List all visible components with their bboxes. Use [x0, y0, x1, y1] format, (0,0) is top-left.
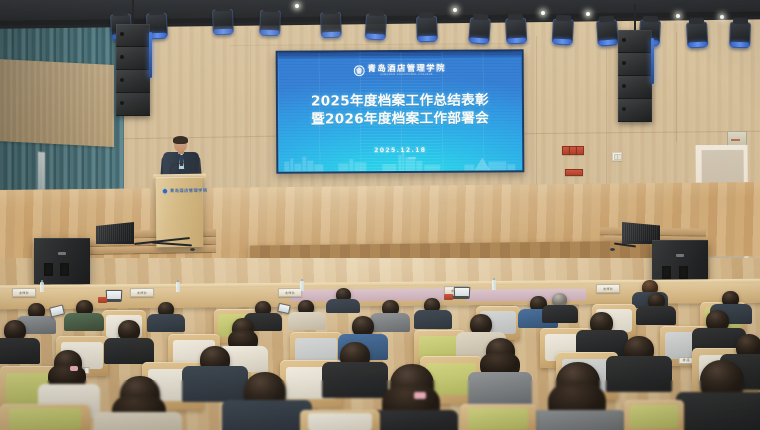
audience-torso	[542, 305, 578, 323]
audience-torso	[182, 366, 248, 402]
hair-clip	[414, 392, 426, 399]
audience-torso	[606, 356, 672, 392]
audience-torso	[288, 312, 326, 330]
hair-clip	[70, 366, 78, 371]
red-folder[interactable]	[444, 294, 453, 300]
seat[interactable]	[300, 410, 380, 430]
audience-torso	[468, 372, 532, 406]
audience-torso	[532, 410, 626, 430]
stage-light	[729, 22, 751, 49]
spotlight-beam	[720, 15, 724, 19]
array-module	[116, 93, 150, 116]
stage-light	[212, 9, 234, 36]
spotlight-beam	[295, 4, 299, 8]
water-bottle	[300, 281, 304, 291]
audience-torso	[370, 313, 410, 332]
screen-institution-logo: 青岛酒店管理学院 QINGDAO VOCATIONAL COLLEGE	[278, 63, 522, 77]
audience-torso	[222, 400, 312, 430]
spotlight-beam	[453, 8, 457, 12]
institution-name-en: QINGDAO VOCATIONAL COLLEGE	[381, 74, 434, 77]
podium-logo: 青岛酒店管理学院	[162, 188, 208, 194]
array-module	[116, 24, 150, 47]
seat[interactable]	[0, 404, 90, 430]
spotlight-beam	[676, 14, 680, 18]
skyline-graphic	[278, 144, 522, 172]
stage-light	[468, 17, 491, 44]
led-screen-top-band	[278, 51, 522, 58]
water-bottle	[40, 282, 44, 292]
nameplate: 主席台	[596, 284, 620, 293]
wall-control-box[interactable]	[727, 131, 747, 146]
desk-cloth	[466, 288, 586, 301]
audience-torso	[94, 412, 182, 430]
array-led-strip	[651, 38, 654, 84]
stage-light	[259, 10, 281, 37]
school-seal-icon	[162, 188, 168, 194]
wall-seam-vertical	[676, 32, 677, 142]
stage-light	[552, 18, 574, 45]
stage-light	[505, 17, 527, 44]
array-module	[618, 99, 652, 122]
audience-torso	[64, 313, 104, 331]
stage-light	[416, 16, 438, 43]
red-folder[interactable]	[98, 297, 107, 303]
nameplate: 主席台	[130, 288, 154, 297]
audience-torso	[0, 338, 40, 364]
led-screen-frame: 青岛酒店管理学院 QINGDAO VOCATIONAL COLLEGE 2025…	[276, 49, 525, 174]
audience-torso	[326, 299, 360, 313]
laptop[interactable]	[452, 287, 469, 299]
array-led-strip	[149, 32, 152, 78]
audience-torso	[322, 362, 388, 398]
led-screen: 青岛酒店管理学院 QINGDAO VOCATIONAL COLLEGE 2025…	[278, 51, 523, 171]
auditorium-photo: 青岛酒店管理学院 QINGDAO VOCATIONAL COLLEGE 2025…	[0, 0, 760, 430]
stage-light	[596, 19, 619, 46]
subwoofer-left	[34, 238, 90, 284]
audience-torso	[147, 314, 185, 332]
array-module	[618, 53, 652, 76]
array-module	[116, 47, 150, 70]
slide-title-line-2: 暨2026年度档案工作部署会	[278, 110, 522, 129]
water-bottle	[492, 280, 496, 290]
audience-torso	[414, 310, 452, 329]
seat[interactable]	[460, 404, 536, 430]
wall-panel-left	[0, 59, 114, 147]
notice-sign-red-lower	[565, 169, 583, 176]
array-module	[116, 70, 150, 93]
stage-light	[686, 21, 708, 48]
presenter-hair	[173, 136, 188, 144]
wall-seam-vertical	[250, 30, 251, 190]
spotlight-beam	[541, 11, 545, 15]
audience-torso	[676, 392, 760, 430]
nameplate: 主席台	[278, 288, 302, 297]
institution-name-cn: 青岛酒店管理学院	[368, 64, 446, 73]
school-seal-icon	[354, 65, 365, 76]
slide-title: 2025年度档案工作总结表彰 暨2026年度档案工作部署会	[278, 92, 522, 128]
stage-light	[365, 13, 387, 40]
array-module	[618, 76, 652, 99]
nameplate: 主席台	[12, 288, 36, 297]
power-outlet-panel[interactable]	[612, 152, 622, 161]
array-module	[618, 30, 652, 53]
speaker-array-right	[618, 30, 652, 122]
audience-torso	[636, 306, 676, 325]
audience-torso	[104, 338, 154, 364]
water-bottle	[176, 282, 180, 292]
speaker-array-left	[116, 24, 150, 116]
podium-institution-name: 青岛酒店管理学院	[170, 188, 208, 194]
notice-sign-red	[576, 146, 584, 155]
seat[interactable]	[624, 400, 684, 430]
cable-anchor	[610, 248, 615, 251]
spotlight-beam	[586, 12, 590, 16]
slide-title-line-1: 2025年度档案工作总结表彰	[278, 92, 522, 111]
cable-anchor	[190, 248, 195, 251]
stage-light	[320, 12, 342, 39]
